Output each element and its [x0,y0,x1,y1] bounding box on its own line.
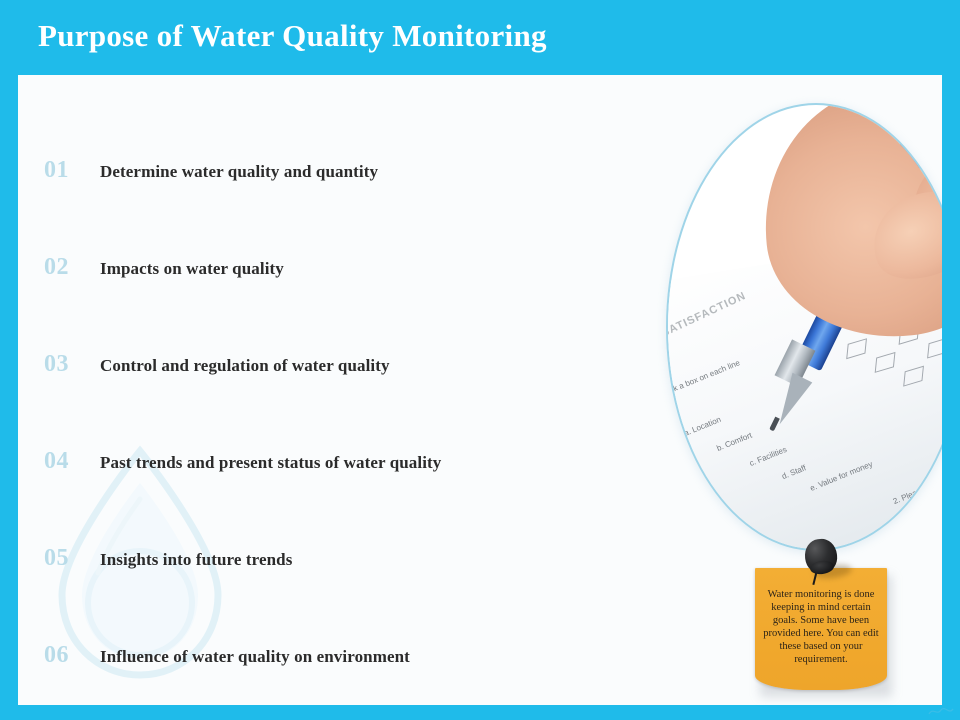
checkbox-icon [927,338,942,359]
checkbox-icon [875,352,896,373]
photo-content: SATISFACTION 1 Tick a box on each line a… [668,105,942,549]
checkbox-icon [903,366,924,387]
list-item[interactable]: 04 Past trends and present status of wat… [44,448,664,482]
list-item-label: Control and regulation of water quality [100,356,390,376]
list-item-number: 01 [44,157,100,184]
purpose-point-list: 01 Determine water quality and quantity … [18,75,678,705]
page-title: Purpose of Water Quality Monitoring [38,16,547,56]
list-item-number: 03 [44,351,100,378]
list-item-label: Past trends and present status of water … [100,453,441,473]
photo-circle-frame: SATISFACTION 1 Tick a box on each line a… [666,103,942,551]
form-option: e. Value for money [809,460,874,493]
list-item[interactable]: 06 Influence of water quality on environ… [44,642,664,676]
sticky-note[interactable]: Water monitoring is done keeping in mind… [750,535,900,700]
corner-mark-icon [928,704,954,718]
form-option: b. Comfort [715,431,753,453]
form-option: a. Location [683,415,723,438]
list-item-label: Impacts on water quality [100,259,284,279]
list-item[interactable]: 05 Insights into future trends [44,545,664,579]
form-question-2: 2. Please tick a box on ea [892,463,942,506]
list-item-label: Influence of water quality on environmen… [100,647,410,667]
list-item[interactable]: 02 Impacts on water quality [44,254,664,288]
list-item-label: Determine water quality and quantity [100,162,378,182]
sticky-note-paper[interactable]: Water monitoring is done keeping in mind… [755,568,887,690]
form-option: c. Facilities [748,445,788,468]
checkbox-icon [846,338,867,359]
slide-root: Purpose of Water Quality Monitoring 01 D… [0,0,960,720]
list-item-label: Insights into future trends [100,550,292,570]
form-instruction: 1 Tick a box on each line [666,358,741,399]
form-option: d. Staff [781,463,808,481]
index-finger [859,175,942,293]
list-item-number: 04 [44,448,100,475]
list-item[interactable]: 03 Control and regulation of water quali… [44,351,664,385]
sticky-note-text: Water monitoring is done keeping in mind… [761,588,881,666]
list-item-number: 02 [44,254,100,281]
list-item[interactable]: 01 Determine water quality and quantity [44,157,664,191]
survey-photo: SATISFACTION 1 Tick a box on each line a… [666,103,942,551]
list-item-number: 06 [44,642,100,669]
list-item-number: 05 [44,545,100,572]
header-band: Purpose of Water Quality Monitoring [0,0,960,75]
form-heading: SATISFACTION [666,290,748,340]
